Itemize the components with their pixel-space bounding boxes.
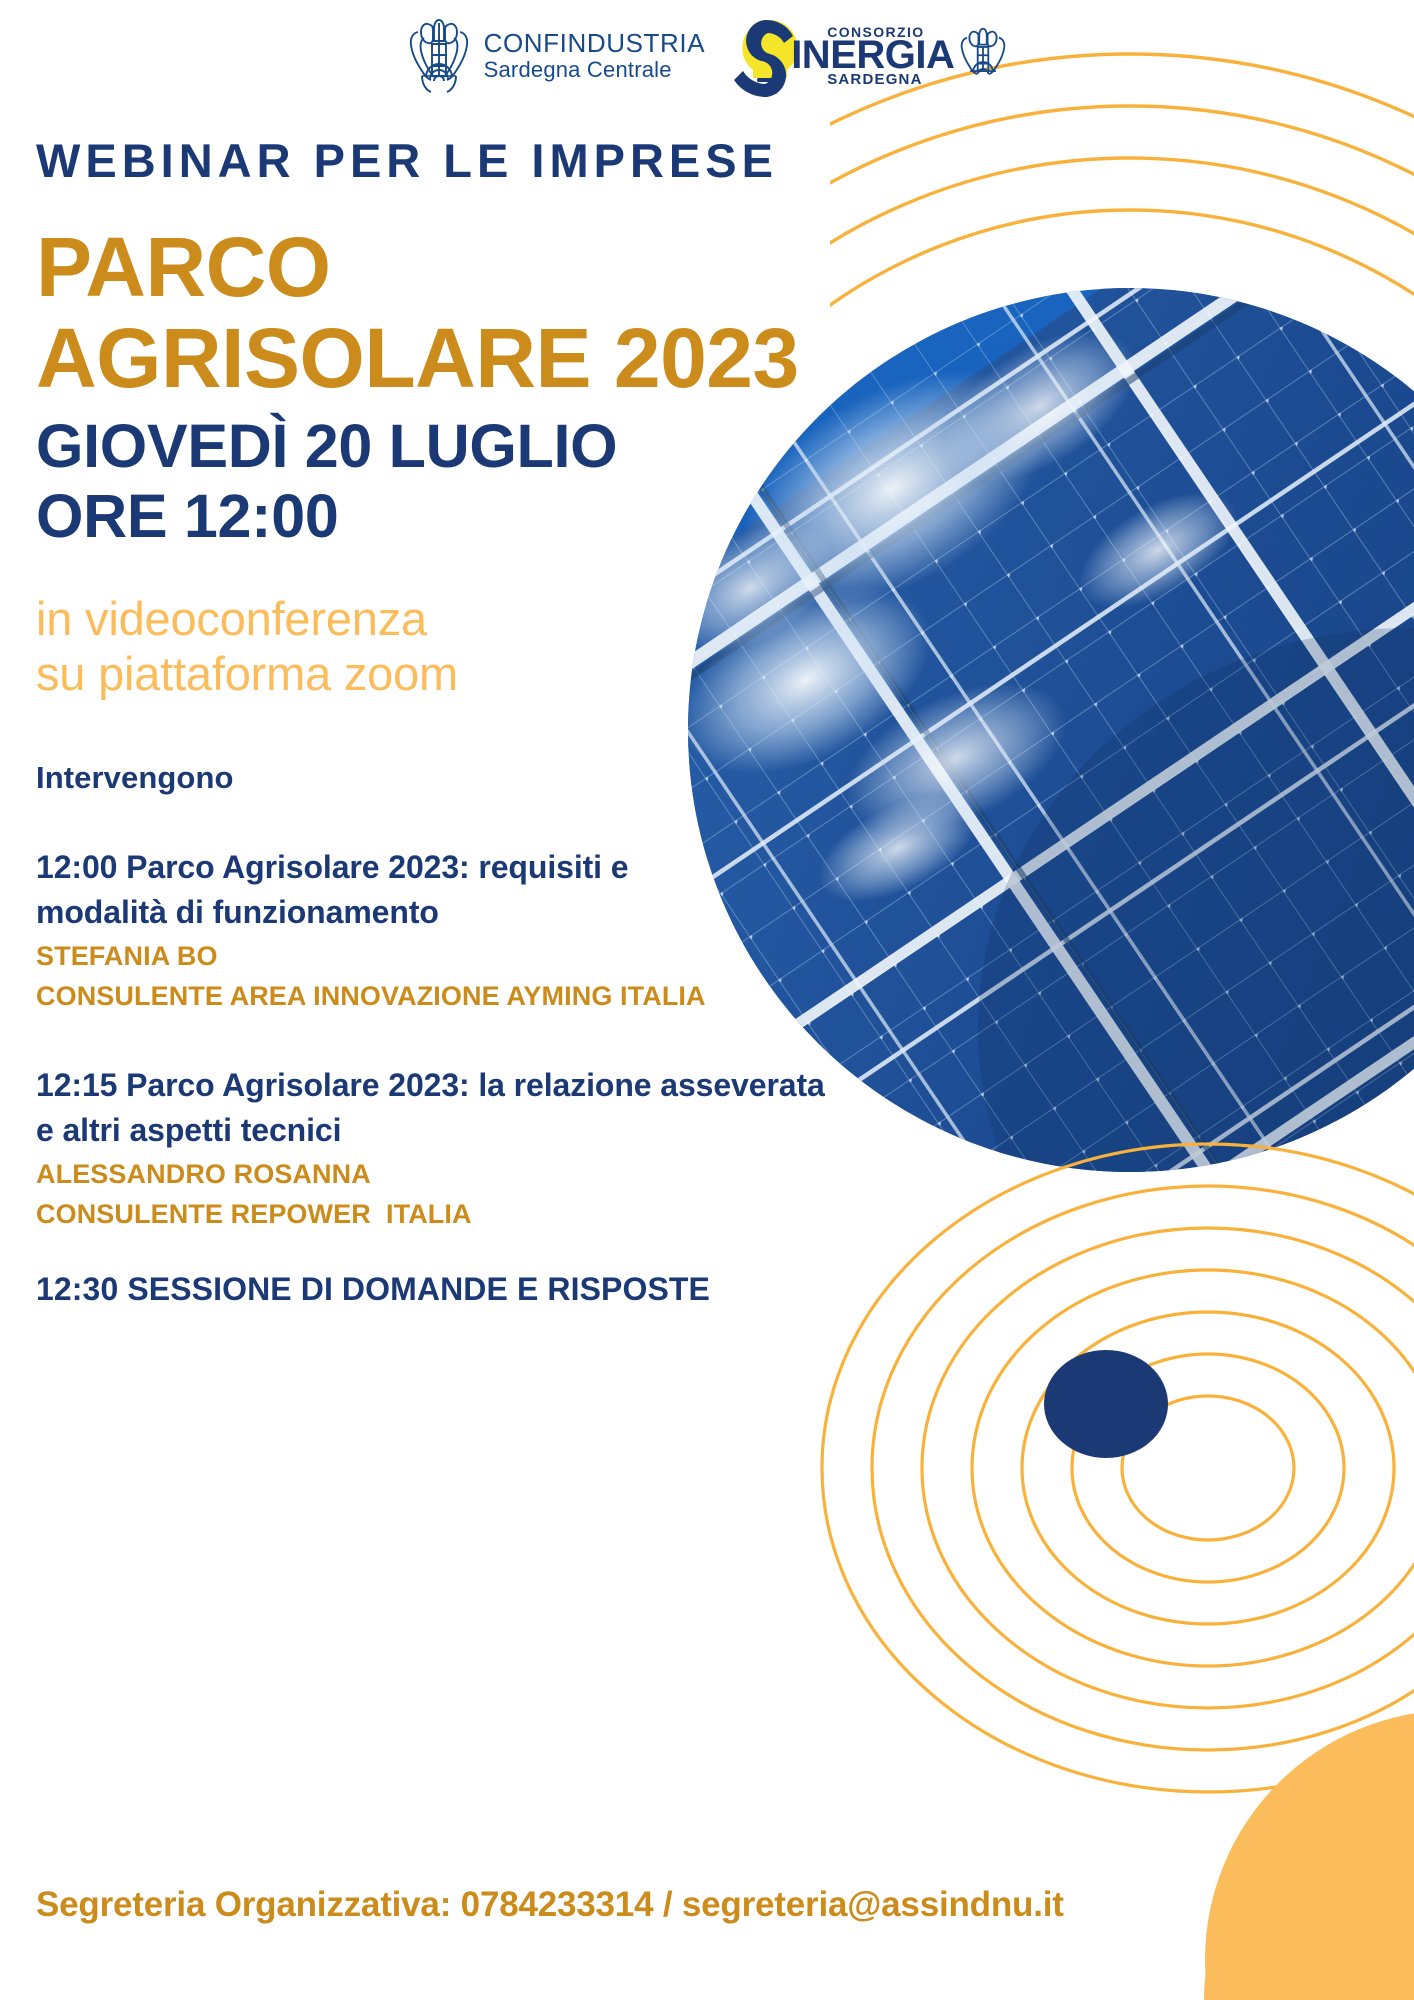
event-date: GIOVEDÌ 20 LUGLIO	[36, 412, 617, 482]
navy-ellipse-dot-icon	[1044, 1350, 1168, 1458]
event-mode: in videoconferenza su piattaforma zoom	[36, 592, 458, 702]
amber-quarter-circle-icon	[1204, 1790, 1414, 2000]
agenda-item: 12:00 Parco Agrisolare 2023: requisiti e…	[36, 845, 906, 1017]
amber-corner-blob-icon	[1205, 1710, 1414, 2000]
footer-contact: Segreteria Organizzativa: 0784233314 / s…	[36, 1885, 1064, 1925]
agenda-speaker-name: STEFANIA BO	[36, 936, 906, 977]
eagle-emblem-icon	[406, 14, 472, 98]
agenda-speaker-role: CONSULENTE REPOWER ITALIA	[36, 1194, 906, 1235]
agenda-qa-session: 12:30 SESSIONE DI DOMANDE E RISPOSTE	[36, 1271, 906, 1308]
sinergia-logo: CONSORZIO INERGIA SARDEGNA	[731, 14, 1008, 98]
agenda-title-line2: modalità di funzionamento	[36, 890, 906, 935]
event-datetime: GIOVEDÌ 20 LUGLIO ORE 12:00	[36, 412, 617, 551]
speakers-heading: Intervengono	[36, 760, 234, 796]
title-line-1: PARCO	[36, 222, 799, 313]
agenda-item-title: 12:00 Parco Agrisolare 2023: requisiti e…	[36, 845, 906, 936]
poster-canvas: CONFINDUSTRIA Sardegna Centrale CONSORZI…	[0, 0, 1414, 2000]
agenda-title-line2: e altri aspetti tecnici	[36, 1108, 906, 1153]
confindustria-wordmark: CONFINDUSTRIA Sardegna Centrale	[484, 29, 706, 83]
confindustria-line2: Sardegna Centrale	[484, 58, 706, 83]
agenda-speaker-name: ALESSANDRO ROSANNA	[36, 1154, 906, 1195]
confindustria-logo: CONFINDUSTRIA Sardegna Centrale	[406, 14, 706, 98]
kicker-heading: WEBINAR PER LE IMPRESE	[36, 133, 778, 188]
concentric-rings-bottom-right-icon	[822, 1144, 1414, 1792]
eagle-emblem-icon	[958, 24, 1008, 88]
event-mode-line1: in videoconferenza	[36, 592, 458, 647]
logo-bar: CONFINDUSTRIA Sardegna Centrale CONSORZI…	[0, 14, 1414, 98]
event-time: ORE 12:00	[36, 482, 617, 552]
agenda-title-line1: 12:00 Parco Agrisolare 2023: requisiti e	[36, 845, 906, 890]
agenda-list: 12:00 Parco Agrisolare 2023: requisiti e…	[36, 845, 906, 1308]
sinergia-wordmark: CONSORZIO INERGIA SARDEGNA	[791, 24, 954, 88]
confindustria-line1: CONFINDUSTRIA	[484, 29, 706, 58]
page-title: PARCO AGRISOLARE 2023	[36, 222, 799, 403]
sinergia-main: INERGIA	[791, 38, 954, 72]
event-mode-line2: su piattaforma zoom	[36, 647, 458, 702]
agenda-item: 12:15 Parco Agrisolare 2023: la relazion…	[36, 1063, 906, 1235]
agenda-item-title: 12:15 Parco Agrisolare 2023: la relazion…	[36, 1063, 906, 1154]
agenda-title-line1: 12:15 Parco Agrisolare 2023: la relazion…	[36, 1063, 906, 1108]
title-line-2: AGRISOLARE 2023	[36, 313, 799, 404]
agenda-speaker-role: CONSULENTE AREA INNOVAZIONE AYMING ITALI…	[36, 976, 906, 1017]
